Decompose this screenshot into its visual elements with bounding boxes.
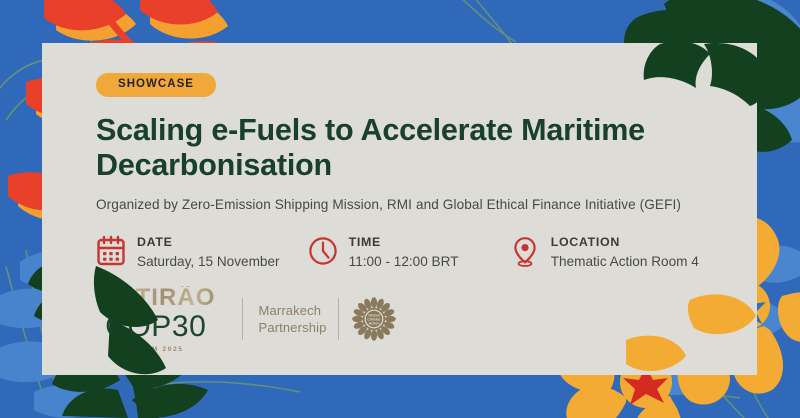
- cop30-logo: MUTIRÃO COP30 BELÉM 2025: [96, 286, 216, 353]
- detail-block-location: LOCATION Thematic Action Room 4: [510, 234, 731, 271]
- cop30-mutirao-text: MUTIRÃO: [96, 286, 216, 310]
- marrakech-line-2: Partnership: [259, 319, 327, 337]
- global-climate-action-emblem: Global Climate Action: [351, 296, 397, 342]
- title-line-1: Scaling e-Fuels to Accelerate Maritime: [96, 113, 645, 147]
- detail-text-date: DATE Saturday, 15 November: [137, 234, 280, 271]
- cop30-text: COP30: [96, 311, 216, 343]
- event-details-row: DATE Saturday, 15 November TIME 11:0: [96, 234, 731, 271]
- showcase-badge: SHOWCASE: [96, 73, 216, 97]
- detail-text-location: LOCATION Thematic Action Room 4: [551, 234, 699, 271]
- card-content: SHOWCASE Scaling e-Fuels to Accelerate M…: [96, 73, 731, 272]
- detail-block-date: DATE Saturday, 15 November: [96, 234, 308, 271]
- detail-block-time: TIME 11:00 - 12:00 BRT: [308, 234, 510, 271]
- logo-divider-2: [338, 298, 339, 340]
- detail-value-time: 11:00 - 12:00 BRT: [349, 252, 459, 272]
- title-line-2: Decarbonisation: [96, 148, 332, 182]
- organizers-text: Organized by Zero-Emission Shipping Miss…: [96, 197, 731, 212]
- detail-value-location: Thematic Action Room 4: [551, 252, 699, 272]
- clock-icon: [308, 235, 338, 267]
- logo-lockup: MUTIRÃO COP30 BELÉM 2025 Marrakech Partn…: [96, 286, 397, 353]
- page-title: Scaling e-Fuels to Accelerate Maritime D…: [96, 113, 716, 185]
- cop30-belem-text: BELÉM 2025: [96, 346, 216, 353]
- event-card: SHOWCASE Scaling e-Fuels to Accelerate M…: [42, 43, 757, 375]
- detail-value-date: Saturday, 15 November: [137, 252, 280, 272]
- marrakech-partnership-text: Marrakech Partnership: [259, 302, 327, 337]
- emblem-line-3: Action: [369, 321, 380, 326]
- detail-label-date: DATE: [137, 235, 280, 251]
- logo-divider-1: [242, 298, 243, 340]
- event-announcement-graphic: SHOWCASE Scaling e-Fuels to Accelerate M…: [0, 0, 800, 418]
- detail-label-time: TIME: [349, 235, 459, 251]
- detail-text-time: TIME 11:00 - 12:00 BRT: [349, 234, 459, 271]
- map-pin-icon: [510, 235, 540, 267]
- marrakech-line-1: Marrakech: [259, 302, 327, 320]
- detail-label-location: LOCATION: [551, 235, 699, 251]
- calendar-icon: [96, 235, 126, 267]
